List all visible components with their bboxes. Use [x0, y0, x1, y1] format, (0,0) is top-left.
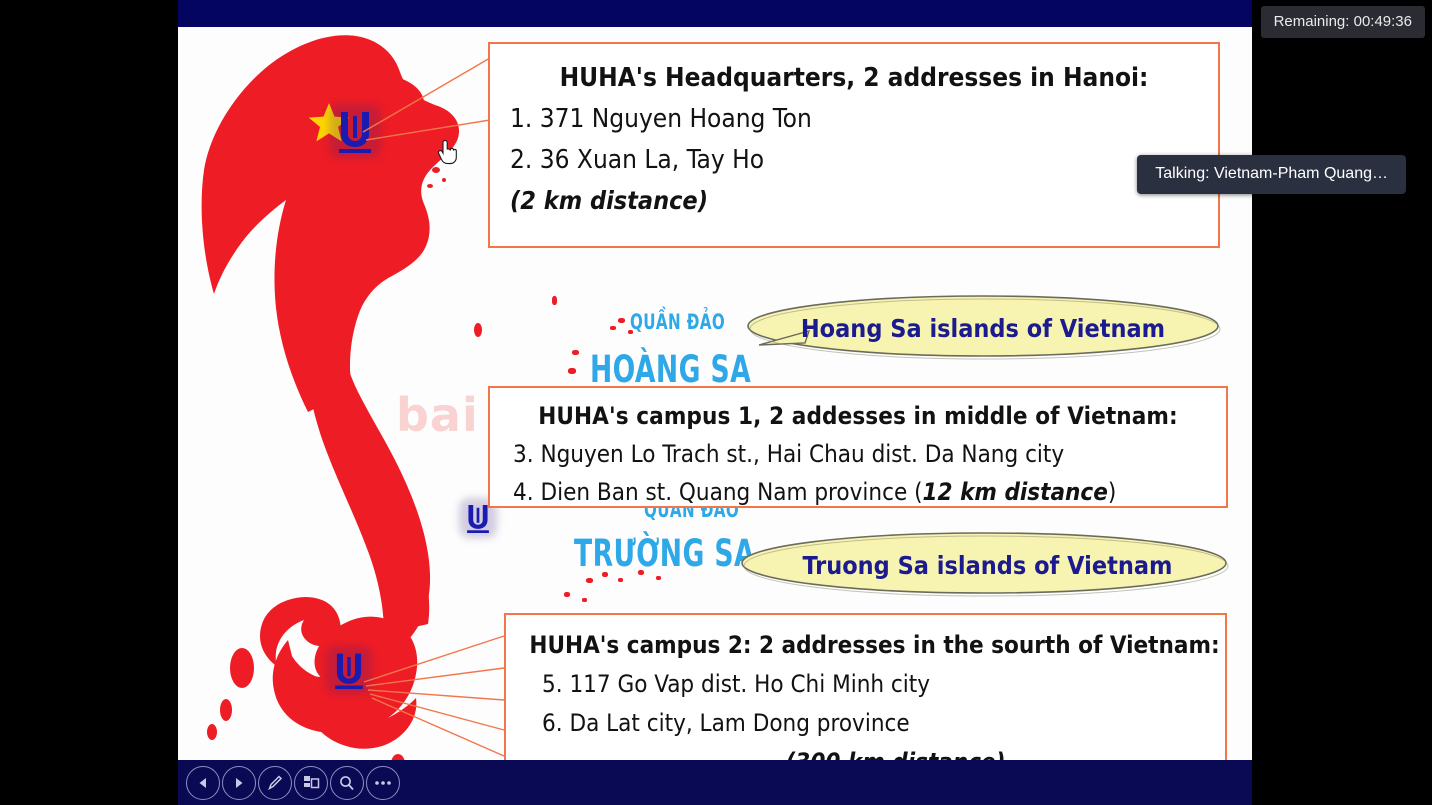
screen: bai — [0, 0, 1432, 805]
island-speck — [602, 572, 608, 577]
viewer-toolbar — [178, 760, 1252, 805]
ellipsis-icon — [374, 780, 392, 786]
textbox-title: HUHA's campus 1, 2 addesses in middle of… — [490, 402, 1226, 430]
island-speck — [656, 576, 661, 580]
island-speck — [582, 598, 587, 602]
slide-watermark: bai — [396, 388, 479, 442]
talking-speaker-badge: Talking: Vietnam-Pham Quang… — [1137, 155, 1406, 194]
triangle-right-icon — [232, 776, 246, 790]
island-label-hoangsa: HOÀNG SA — [590, 348, 751, 391]
island-speck — [564, 592, 570, 597]
more-options-button[interactable] — [366, 766, 400, 800]
huha-logo-marker-hanoi — [333, 108, 377, 154]
textbox-note: (2 km distance) — [510, 186, 1218, 215]
annotate-button[interactable] — [258, 766, 292, 800]
previous-slide-button[interactable] — [186, 766, 220, 800]
textbox-title: HUHA's campus 2: 2 addresses in the sour… — [506, 631, 1225, 659]
grid-icon — [302, 774, 320, 792]
callout-truong-sa: Truong Sa islands of Vietnam — [728, 532, 1233, 598]
textbox-line: 3. Nguyen Lo Trach st., Hai Chau dist. D… — [513, 440, 1226, 468]
callout-label: Hoang Sa islands of Vietnam — [731, 295, 1221, 361]
textbox-line: 5. 117 Go Vap dist. Ho Chi Minh city — [542, 670, 1225, 698]
island-speck — [618, 318, 625, 323]
island-speck — [628, 330, 633, 334]
textbox-title: HUHA's Headquarters, 2 addresses in Hano… — [490, 63, 1218, 93]
slide-overview-button[interactable] — [294, 766, 328, 800]
huha-logo-marker-hcmc — [330, 650, 368, 690]
slide-canvas: bai — [178, 0, 1252, 805]
callout-hoang-sa: Hoang Sa islands of Vietnam — [731, 295, 1221, 361]
textbox-campus-2: HUHA's campus 2: 2 addresses in the sour… — [504, 613, 1227, 778]
callout-label: Truong Sa islands of Vietnam — [728, 532, 1233, 598]
textbox-line: 4. Dien Ban st. Quang Nam province (12 k… — [513, 478, 1226, 506]
pen-icon — [266, 774, 284, 792]
zoom-button[interactable] — [330, 766, 364, 800]
textbox-line: 6. Da Lat city, Lam Dong province — [542, 709, 1225, 737]
textbox-line: 1. 371 Nguyen Hoang Ton — [510, 104, 1218, 134]
island-speck — [568, 368, 576, 374]
next-slide-button[interactable] — [222, 766, 256, 800]
island-speck — [586, 578, 593, 583]
island-speck — [572, 350, 579, 355]
remaining-time-badge: Remaining: 00:49:36 — [1261, 6, 1425, 38]
textbox-line-distance: 12 km distance — [923, 478, 1108, 506]
island-speck — [618, 578, 623, 582]
textbox-headquarters: HUHA's Headquarters, 2 addresses in Hano… — [488, 42, 1220, 248]
island-speck — [552, 296, 557, 305]
textbox-line: 2. 36 Xuan La, Tay Ho — [510, 145, 1218, 175]
island-label-hoangsa-small: QUẦN ĐẢO — [630, 310, 725, 334]
island-speck — [610, 326, 616, 330]
textbox-line-tail: ) — [1108, 478, 1116, 506]
island-speck — [638, 570, 644, 575]
textbox-campus-1: HUHA's campus 1, 2 addesses in middle of… — [488, 386, 1228, 508]
textbox-line-text: 4. Dien Ban st. Quang Nam province ( — [513, 478, 923, 506]
triangle-left-icon — [196, 776, 210, 790]
magnifier-icon — [338, 774, 356, 792]
